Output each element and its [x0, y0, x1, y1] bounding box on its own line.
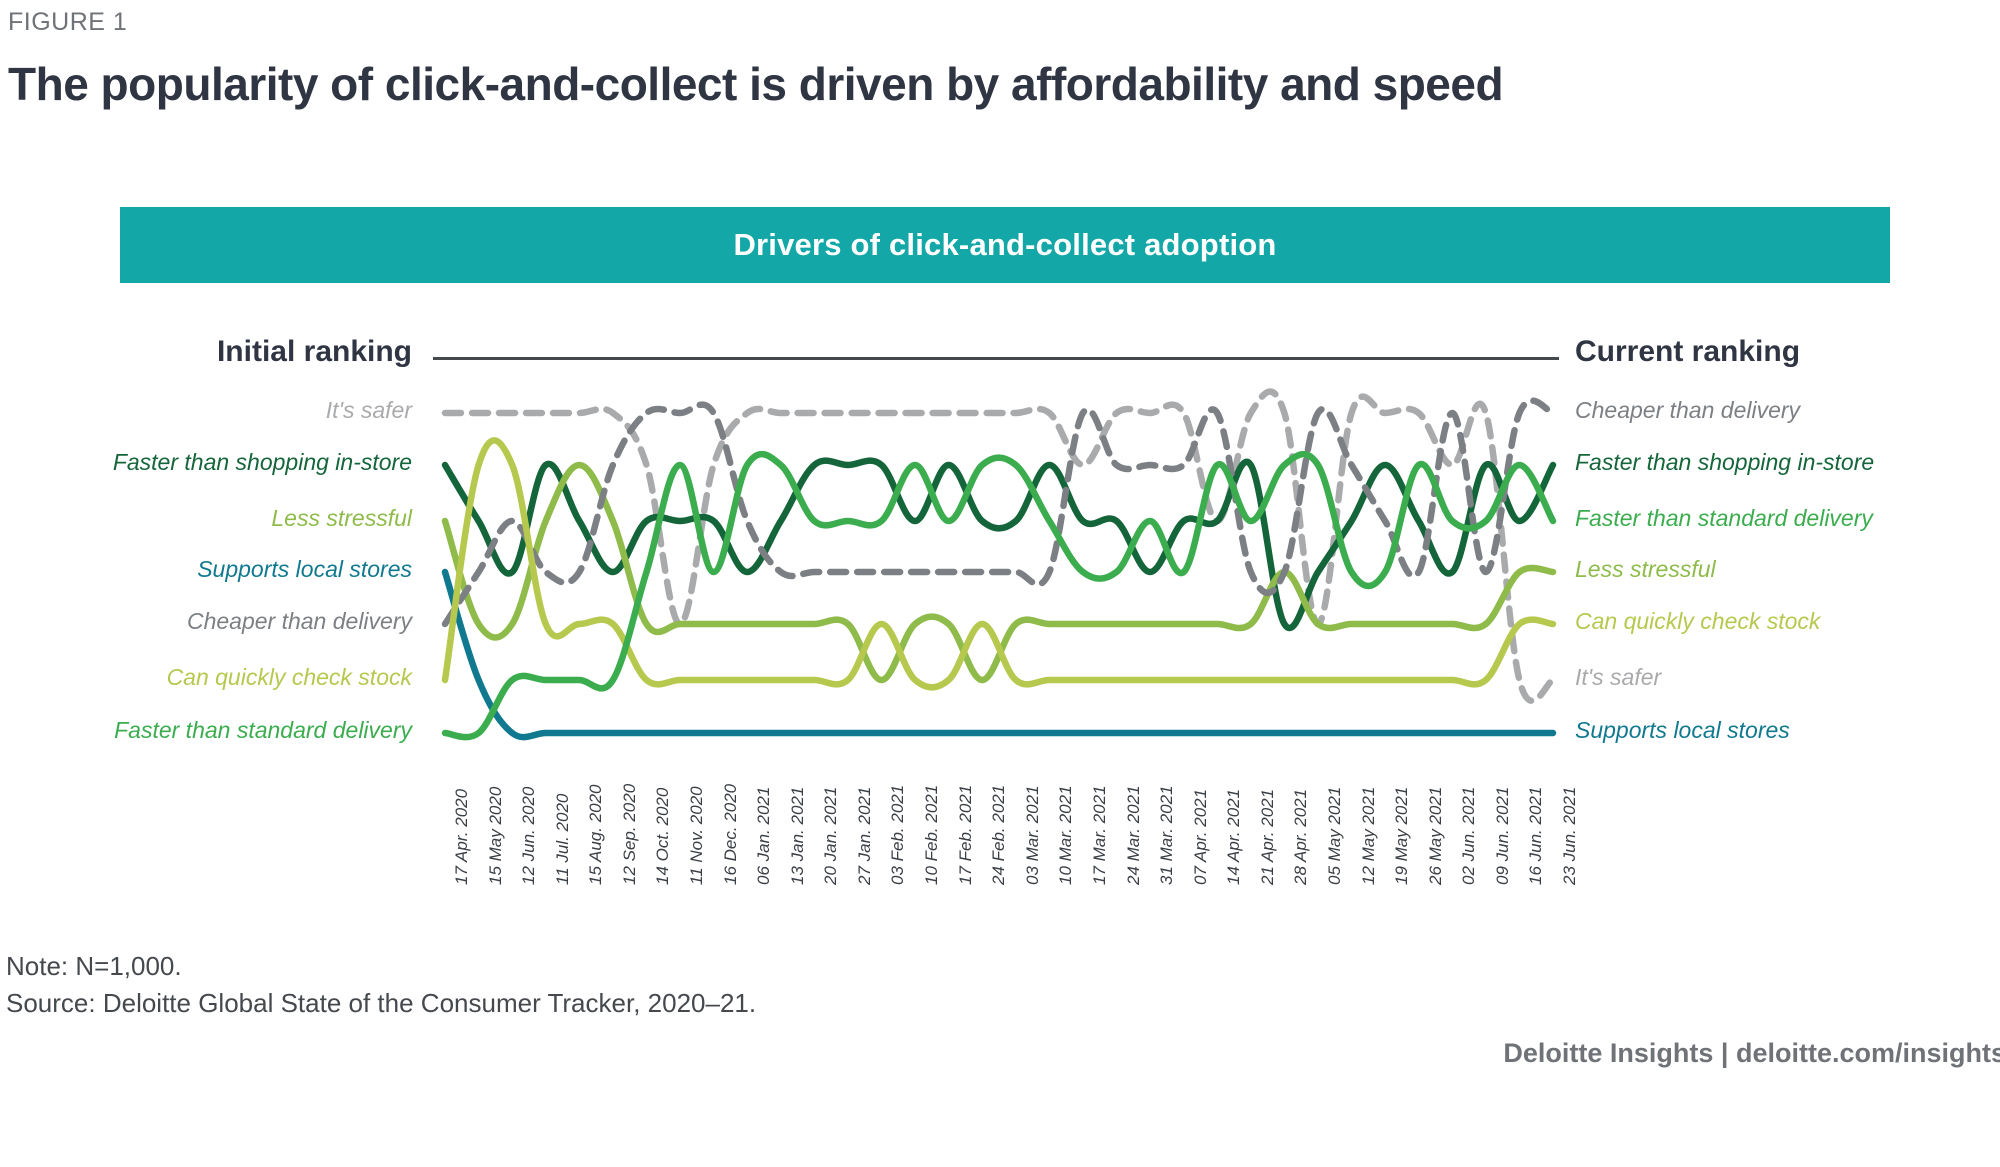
x-tick-27: 05 May 2021: [1325, 787, 1345, 885]
x-tick-6: 12 Sep. 2020: [620, 784, 640, 885]
x-tick-20: 17 Mar. 2021: [1090, 785, 1110, 885]
note-line: Note: N=1,000.: [6, 948, 756, 985]
x-tick-3: 12 Jun. 2020: [519, 787, 539, 885]
x-tick-33: 16 Jun. 2021: [1526, 787, 1546, 885]
x-tick-14: 03 Feb. 2021: [888, 785, 908, 885]
x-tick-15: 10 Feb. 2021: [922, 785, 942, 885]
source-line: Source: Deloitte Global State of the Con…: [6, 985, 756, 1022]
x-tick-16: 17 Feb. 2021: [956, 785, 976, 885]
x-tick-11: 13 Jan. 2021: [788, 787, 808, 885]
chart-notes: Note: N=1,000. Source: Deloitte Global S…: [6, 948, 756, 1022]
x-tick-26: 28 Apr. 2021: [1291, 789, 1311, 885]
x-tick-22: 31 Mar. 2021: [1157, 785, 1177, 885]
x-tick-13: 27 Jan. 2021: [855, 787, 875, 885]
x-tick-1: 17 Apr. 2020: [452, 789, 472, 885]
x-tick-5: 15 Aug. 2020: [586, 784, 606, 885]
x-tick-25: 21 Apr. 2021: [1258, 789, 1278, 885]
x-tick-32: 09 Jun. 2021: [1493, 787, 1513, 885]
x-tick-18: 03 Mar. 2021: [1023, 785, 1043, 885]
x-tick-4: 11 Jul. 2020: [553, 794, 573, 885]
x-tick-29: 19 May 2021: [1392, 787, 1412, 885]
x-tick-31: 02 Jun. 2021: [1459, 787, 1479, 885]
x-tick-30: 26 May 2021: [1426, 787, 1446, 885]
x-tick-19: 10 Mar. 2021: [1056, 785, 1076, 885]
x-tick-17: 24 Feb. 2021: [989, 785, 1009, 885]
x-tick-21: 24 Mar. 2021: [1124, 785, 1144, 885]
x-tick-7: 14 Oct. 2020: [653, 788, 673, 885]
x-tick-24: 14 Apr. 2021: [1224, 789, 1244, 885]
x-tick-8: 11 Nov. 2020: [687, 786, 707, 885]
x-tick-28: 12 May 2021: [1359, 787, 1379, 885]
x-tick-9: 16 Dec. 2020: [721, 784, 741, 885]
x-tick-23: 07 Apr. 2021: [1191, 789, 1211, 885]
x-tick-34: 23 Jun. 2021: [1560, 787, 1580, 885]
deloitte-credit: Deloitte Insights | deloitte.com/insight…: [1503, 1038, 2000, 1069]
x-tick-10: 06 Jan. 2021: [754, 787, 774, 885]
x-tick-2: 15 May 2020: [486, 787, 506, 885]
x-tick-12: 20 Jan. 2021: [821, 787, 841, 885]
